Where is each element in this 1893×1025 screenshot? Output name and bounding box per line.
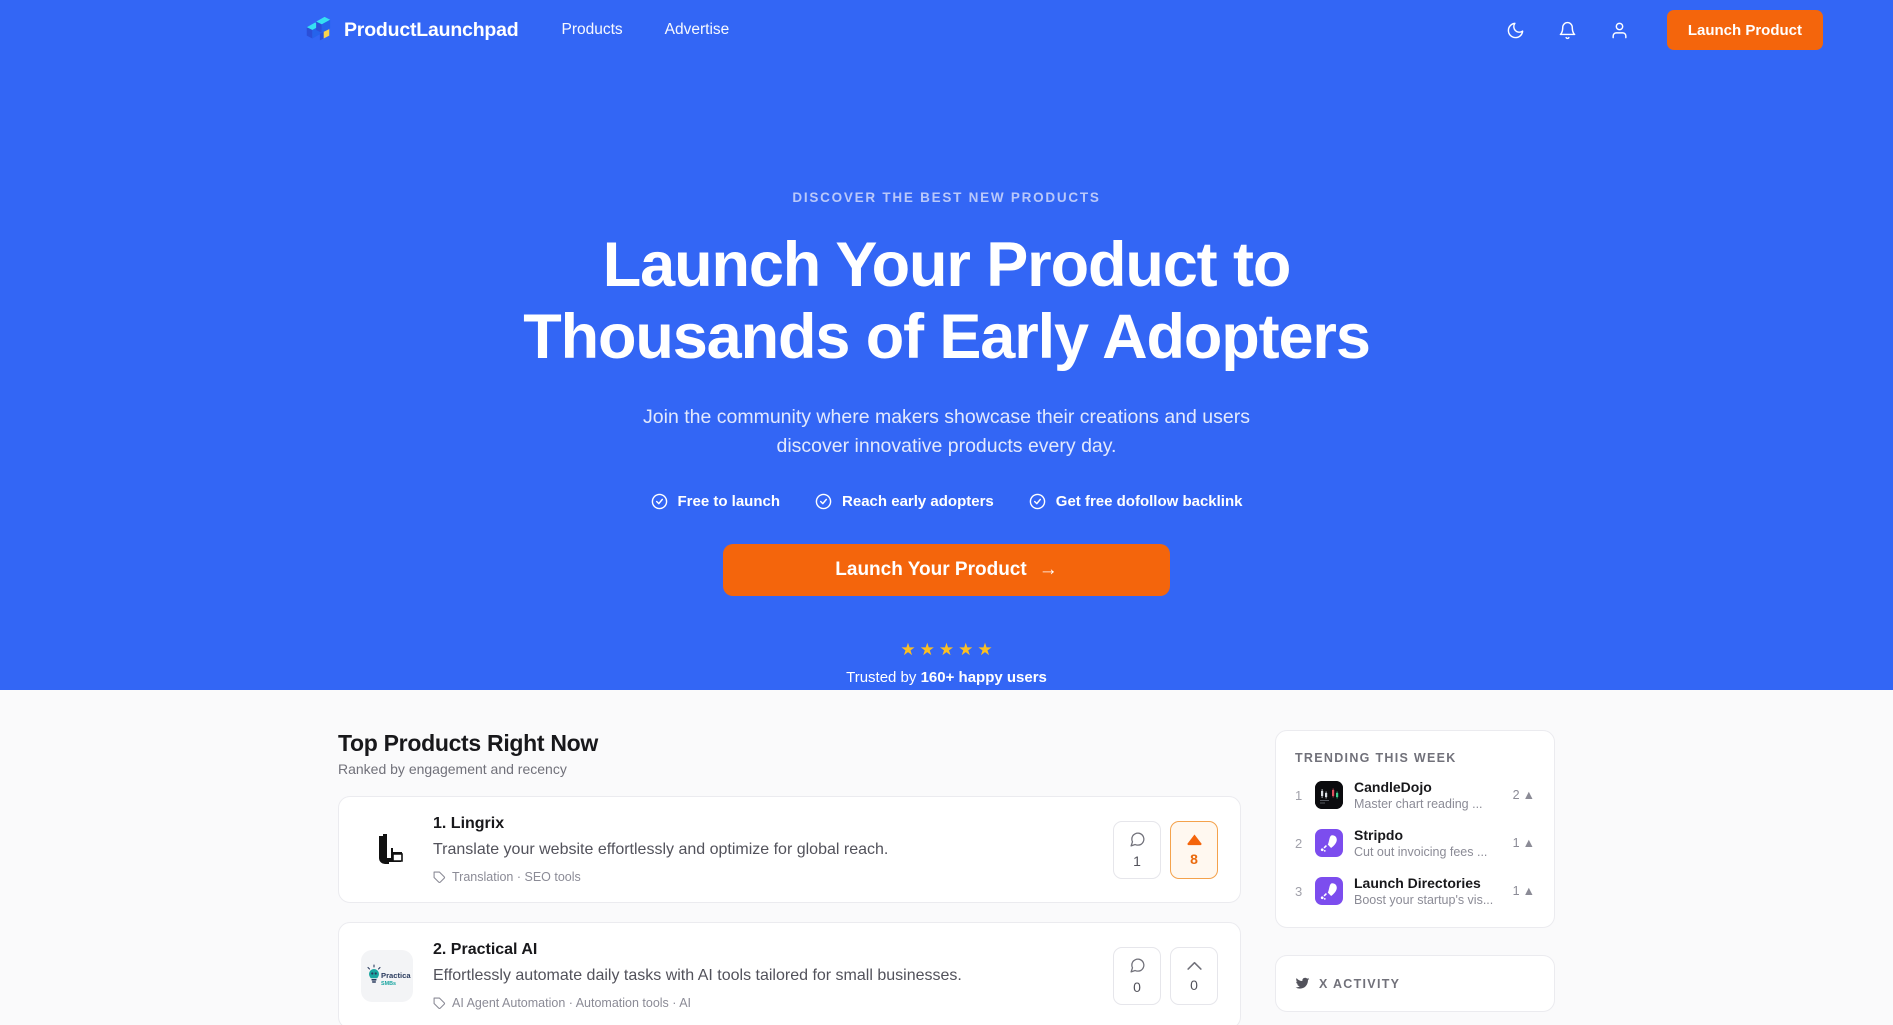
candlestick-chart-icon — [1315, 781, 1343, 809]
product-tags: AI Agent Automation · Automation tools ·… — [433, 996, 1093, 1010]
trending-title: TRENDING THIS WEEK — [1295, 751, 1535, 765]
star-rating: ★ ★ ★ ★ ★ — [900, 641, 992, 658]
section-subtitle: Ranked by engagement and recency — [338, 761, 1241, 777]
trend-votes: 1 ▲ — [1513, 836, 1535, 850]
nav-actions: Launch Product — [1505, 10, 1823, 50]
comment-icon — [1129, 957, 1146, 974]
hero-feature-2: Get free dofollow backlink — [1029, 493, 1243, 510]
comment-count: 1 — [1133, 853, 1141, 869]
table-row[interactable]: Practical A SMBs 2. Practical AI Effortl… — [338, 922, 1241, 1025]
comment-button[interactable]: 1 — [1113, 821, 1161, 879]
list-item[interactable]: 3 Launch Directories Boost your startup'… — [1295, 875, 1535, 907]
trend-rank: 1 — [1295, 788, 1304, 803]
trend-rank: 2 — [1295, 836, 1304, 851]
trend-info: Launch Directories Boost your startup's … — [1354, 875, 1502, 907]
product-info: 2. Practical AI Effortlessly automate da… — [433, 941, 1093, 1010]
star-icon: ★ — [900, 641, 915, 658]
stacked-cubes-logo-icon — [303, 15, 333, 45]
nav-link-advertise[interactable]: Advertise — [665, 21, 730, 39]
bell-icon[interactable] — [1557, 19, 1579, 41]
hero-cta-label: Launch Your Product — [835, 559, 1026, 581]
page-title: Launch Your Product to Thousands of Earl… — [523, 230, 1370, 373]
comment-count: 0 — [1133, 979, 1141, 995]
trust-highlight: 160+ happy users — [921, 669, 1047, 686]
trend-votes: 1 ▲ — [1513, 884, 1535, 898]
launch-product-button[interactable]: Launch Product — [1667, 10, 1823, 50]
rocket-icon — [1315, 829, 1343, 857]
trend-desc: Cut out invoicing fees ... — [1354, 845, 1502, 859]
table-row[interactable]: 1. Lingrix Translate your website effort… — [338, 796, 1241, 903]
trending-list: 1 — [1295, 779, 1535, 907]
vote-group: 1 8 — [1113, 821, 1218, 879]
product-tags-label: Translation · SEO tools — [452, 870, 581, 884]
trend-info: Stripdo Cut out invoicing fees ... — [1354, 827, 1502, 859]
nav-links: Products Advertise — [561, 21, 729, 39]
trend-desc: Master chart reading ... — [1354, 797, 1502, 811]
hero-subtitle-line1: Join the community where makers showcase… — [643, 406, 1250, 428]
hero-title-line1: Launch Your Product to — [603, 230, 1290, 300]
trend-desc: Boost your startup's vis... — [1354, 893, 1502, 907]
tag-icon — [433, 997, 446, 1010]
x-activity-card: X ACTIVITY — [1275, 955, 1555, 1012]
comment-button[interactable]: 0 — [1113, 947, 1161, 1005]
trend-vote-count: 1 — [1513, 884, 1520, 898]
tag-icon — [433, 871, 446, 884]
product-tags: Translation · SEO tools — [433, 870, 1093, 884]
comment-icon — [1129, 831, 1146, 848]
product-tags-label: AI Agent Automation · Automation tools ·… — [452, 996, 691, 1010]
hero-launch-product-button[interactable]: Launch Your Product → — [723, 544, 1170, 596]
arrow-right-icon: → — [1039, 559, 1058, 581]
upvote-chevron-icon — [1186, 959, 1203, 972]
hero-feature-label-0: Free to launch — [678, 493, 781, 510]
hero-feature-0: Free to launch — [651, 493, 781, 510]
hero-feature-label-2: Get free dofollow backlink — [1056, 493, 1243, 510]
vote-count: 8 — [1190, 851, 1198, 867]
moon-icon[interactable] — [1505, 19, 1527, 41]
x-activity-header: X ACTIVITY — [1295, 976, 1535, 991]
star-icon: ★ — [920, 641, 935, 658]
trust-text: Trusted by 160+ happy users — [846, 669, 1047, 686]
trending-card: TRENDING THIS WEEK 1 — [1275, 730, 1555, 928]
vote-group: 0 0 — [1113, 947, 1218, 1005]
brand-name: ProductLaunchpad — [344, 19, 518, 42]
product-tagline: Translate your website effortlessly and … — [433, 841, 1093, 859]
practical-ai-logo-icon: Practical A SMBs — [361, 950, 413, 1002]
list-item[interactable]: 1 — [1295, 779, 1535, 811]
user-icon[interactable] — [1609, 19, 1631, 41]
upvote-button[interactable]: 8 — [1170, 821, 1218, 879]
rocket-icon — [1315, 877, 1343, 905]
upvote-triangle-icon: ▲ — [1523, 884, 1535, 898]
svg-text:Practical A: Practical A — [381, 971, 411, 980]
hero-feature-1: Reach early adopters — [815, 493, 994, 510]
sidebar: TRENDING THIS WEEK 1 — [1275, 730, 1555, 1025]
check-circle-icon — [1029, 493, 1046, 510]
trend-vote-count: 1 — [1513, 836, 1520, 850]
upvote-triangle-icon — [1186, 833, 1203, 846]
product-tagline: Effortlessly automate daily tasks with A… — [433, 967, 1093, 985]
section-title: Top Products Right Now — [338, 730, 1241, 757]
hero-subtitle-line2: discover innovative products every day. — [777, 435, 1117, 457]
list-item[interactable]: 2 Stripdo Cut out invoicing fees ... — [1295, 827, 1535, 859]
lingrix-logo-icon — [361, 824, 413, 876]
trend-name: Stripdo — [1354, 827, 1502, 843]
svg-text:SMBs: SMBs — [381, 981, 396, 987]
twitter-bird-icon — [1295, 976, 1310, 991]
trend-name: CandleDojo — [1354, 779, 1502, 795]
upvote-triangle-icon: ▲ — [1523, 788, 1535, 802]
nav-link-products[interactable]: Products — [561, 21, 622, 39]
check-circle-icon — [815, 493, 832, 510]
trend-name: Launch Directories — [1354, 875, 1502, 891]
upvote-triangle-icon: ▲ — [1523, 836, 1535, 850]
hero-title-line2: Thousands of Early Adopters — [523, 302, 1370, 372]
trend-vote-count: 2 — [1513, 788, 1520, 802]
check-circle-icon — [651, 493, 668, 510]
star-icon: ★ — [958, 641, 973, 658]
hero-section: DISCOVER THE BEST NEW PRODUCTS Launch Yo… — [0, 60, 1893, 690]
star-icon: ★ — [977, 641, 992, 658]
main-content: Top Products Right Now Ranked by engagem… — [0, 690, 1893, 1025]
trend-rank: 3 — [1295, 884, 1304, 899]
product-name: 1. Lingrix — [433, 815, 1093, 833]
brand-logo-link[interactable]: ProductLaunchpad — [303, 15, 518, 45]
trust-prefix: Trusted by — [846, 669, 920, 686]
x-activity-title: X ACTIVITY — [1319, 977, 1400, 991]
hero-eyebrow: DISCOVER THE BEST NEW PRODUCTS — [792, 190, 1100, 205]
star-icon: ★ — [939, 641, 954, 658]
trend-info: CandleDojo Master chart reading ... — [1354, 779, 1502, 811]
hero-feature-list: Free to launch Reach early adopters Get … — [651, 493, 1243, 510]
hero-subtitle: Join the community where makers showcase… — [627, 403, 1267, 460]
products-column: Top Products Right Now Ranked by engagem… — [338, 730, 1241, 1025]
hero-feature-label-1: Reach early adopters — [842, 493, 994, 510]
top-navbar: ProductLaunchpad Products Advertise — [0, 0, 1893, 60]
upvote-button[interactable]: 0 — [1170, 947, 1218, 1005]
product-info: 1. Lingrix Translate your website effort… — [433, 815, 1093, 884]
vote-count: 0 — [1190, 977, 1198, 993]
product-name: 2. Practical AI — [433, 941, 1093, 959]
trend-votes: 2 ▲ — [1513, 788, 1535, 802]
